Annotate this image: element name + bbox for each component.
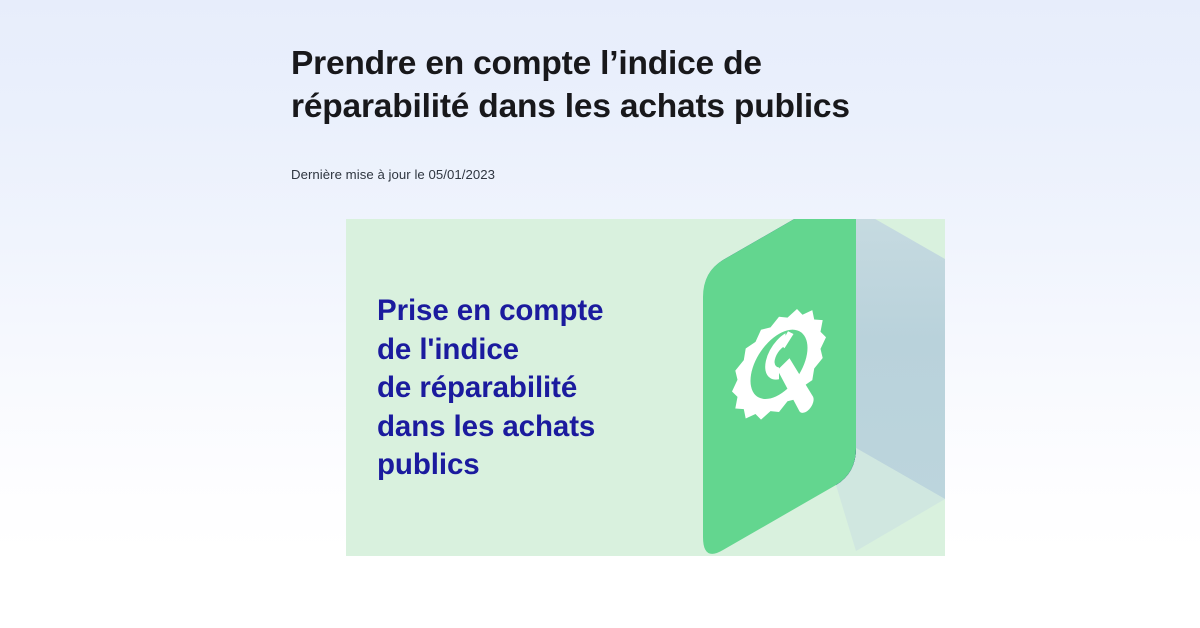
illustration-caption: Prise en compte de l'indice de réparabil… [377, 292, 677, 485]
illustration-card: Prise en compte de l'indice de réparabil… [346, 219, 945, 556]
page-root: Prendre en compte l’indice de réparabili… [0, 0, 1200, 628]
tile-face [703, 219, 856, 554]
page-title: Prendre en compte l’indice de réparabili… [291, 42, 971, 128]
last-update-text: Dernière mise à jour le 05/01/2023 [291, 166, 495, 184]
isometric-tile-illustration [676, 219, 945, 556]
page-header: Prendre en compte l’indice de réparabili… [291, 42, 971, 128]
gear-wrench-icon [676, 219, 945, 556]
